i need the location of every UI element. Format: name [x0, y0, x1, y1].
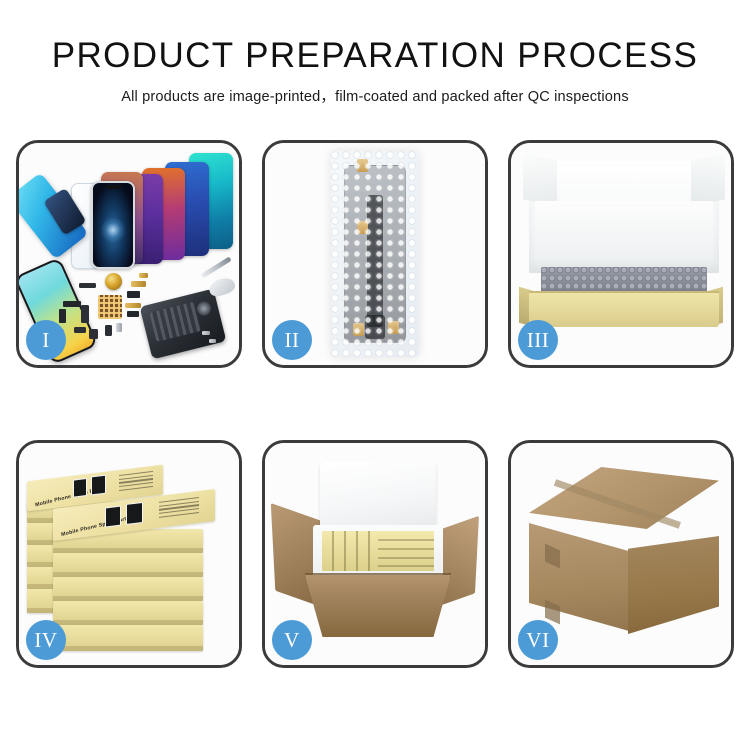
inner-box-body	[529, 293, 719, 327]
step-badge-3: III	[518, 320, 558, 360]
component-part	[127, 311, 139, 317]
tape-strip	[353, 323, 364, 336]
step-badge-5: V	[272, 620, 312, 660]
component-part	[89, 329, 98, 339]
retail-box	[53, 577, 203, 601]
step-panel-6[interactable]: VI	[508, 440, 734, 668]
component-part	[209, 339, 216, 343]
step-panel-4[interactable]: Mobile Phone Spare Parts	[16, 440, 242, 668]
foam-liner	[535, 201, 713, 259]
box-art-thumbnail	[105, 506, 121, 528]
step-badge-4: IV	[26, 620, 66, 660]
component-part	[81, 305, 89, 323]
bubble-wrap-package	[331, 151, 419, 357]
page-title: PRODUCT PREPARATION PROCESS	[0, 36, 750, 76]
step-badge-1: I	[26, 320, 66, 360]
bga-chip-part	[98, 295, 122, 319]
step-badge-2: II	[272, 320, 312, 360]
hand-tool	[207, 275, 237, 298]
carton-top-face	[529, 467, 719, 529]
carton-side-face	[628, 536, 719, 634]
tape-strip	[388, 321, 399, 334]
phone-main-screen	[91, 181, 135, 269]
step-badge-6: VI	[518, 620, 558, 660]
component-part	[131, 281, 146, 287]
carton-front-face	[529, 523, 629, 631]
component-part	[139, 273, 148, 278]
copper-coil-part	[105, 273, 122, 290]
component-part	[125, 303, 141, 308]
component-part	[116, 323, 122, 332]
component-part	[105, 325, 112, 336]
page-subtitle: All products are image-printed，film-coat…	[0, 85, 750, 106]
yellow-boxes-inside	[322, 531, 434, 571]
retail-box	[53, 601, 203, 625]
phone-notch-icon	[105, 185, 122, 189]
step-panel-1[interactable]: I	[16, 140, 242, 368]
box-art-thumbnail	[91, 475, 106, 496]
tape-strip	[357, 159, 368, 172]
component-part	[74, 327, 86, 333]
box-art-thumbnail	[73, 478, 87, 498]
step-panel-5[interactable]: V	[262, 440, 488, 668]
step-panel-2[interactable]: II	[262, 140, 488, 368]
box-spec-lines	[119, 471, 153, 494]
component-part	[79, 283, 96, 288]
phone-chassis	[140, 289, 227, 360]
tweezers-tool	[200, 256, 231, 278]
component-part	[63, 301, 81, 307]
component-part	[202, 331, 210, 335]
retail-box	[53, 625, 203, 651]
styrofoam-lid	[320, 461, 436, 529]
flex-cable	[367, 195, 383, 327]
retail-box	[53, 553, 203, 577]
step-panel-3[interactable]: III	[508, 140, 734, 368]
box-art-thumbnail	[126, 502, 143, 525]
kraft-carton-open	[305, 575, 451, 637]
component-part	[127, 291, 140, 298]
tape-strip	[357, 221, 368, 234]
process-steps-grid: I II	[16, 140, 734, 668]
header: PRODUCT PREPARATION PROCESS All products…	[0, 0, 750, 106]
component-part	[59, 309, 66, 323]
box-spec-lines	[159, 497, 199, 520]
product-preparation-infographic: PRODUCT PREPARATION PROCESS All products…	[0, 0, 750, 750]
